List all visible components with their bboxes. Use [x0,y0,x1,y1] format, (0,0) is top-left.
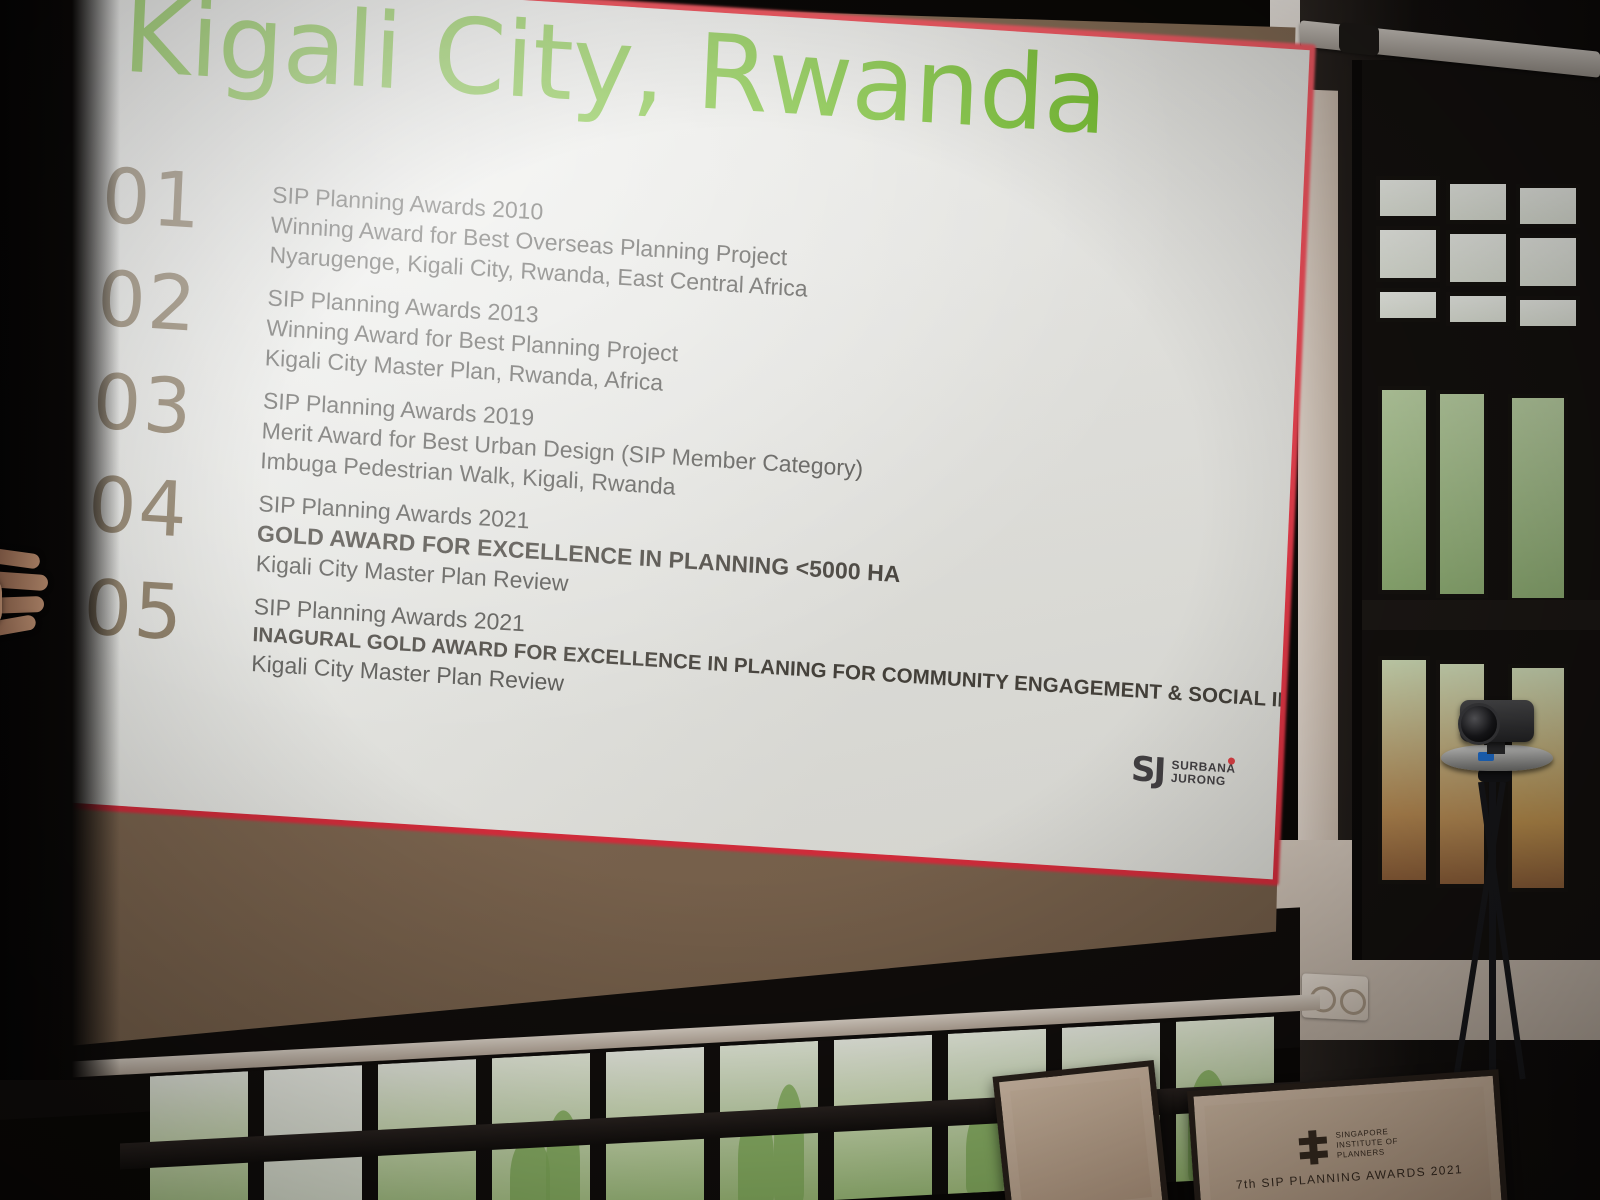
award-number: 01 [100,158,233,242]
window-pane [1380,292,1436,318]
projection-screen: Kigali City, Rwanda 01 SIP Planning Awar… [0,0,1340,1080]
sj-wordmark: SURBANA JURONG [1171,759,1236,789]
screen-left-shadow [0,0,120,1080]
award-list: 01 SIP Planning Awards 2010 Winning Awar… [81,164,1282,754]
window-pane [1450,234,1506,282]
socket-outlet-right [1340,988,1366,1015]
award-plaque-back [992,1060,1169,1200]
window-pane [1450,296,1506,322]
sip-logo-text: SINGAPORE INSTITUTE OF PLANNERS [1335,1127,1399,1161]
finger [0,547,41,569]
window-pane-foliage [1382,660,1426,880]
window-pane [1520,188,1576,224]
window-pane [1520,300,1576,326]
camera-neck [1487,740,1505,754]
presentation-slide: Kigali City, Rwanda 01 SIP Planning Awar… [15,0,1310,879]
plaque-face [1010,1078,1152,1200]
sip-logo: SINGAPORE INSTITUTE OF PLANNERS [1295,1125,1399,1166]
sj-monogram: SJ [1130,752,1165,788]
photo-scene: SINGAPORE INSTITUTE OF PLANNERS 7th SIP … [0,0,1600,1200]
finger [0,571,48,591]
window-pane [1450,184,1506,220]
award-plaque-front: SINGAPORE INSTITUTE OF PLANNERS 7th SIP … [1187,1069,1509,1200]
window-pane-foliage [1382,390,1426,590]
window-pane [150,1071,248,1200]
projector-screen-roller-cap [1339,22,1379,56]
right-window [1352,60,1600,960]
window-pane-foliage [1440,394,1484,594]
plant-leaf [774,1084,804,1200]
surbana-jurong-logo: SJ SURBANA JURONG [1130,752,1236,793]
window-pane [1380,180,1436,216]
slide-frame: Kigali City, Rwanda 01 SIP Planning Awar… [15,0,1310,879]
window-pane [1520,238,1576,286]
sip-institute-icon [1295,1129,1331,1165]
plaque-face: SINGAPORE INSTITUTE OF PLANNERS 7th SIP … [1204,1086,1492,1200]
window-pane-foliage [1512,398,1564,598]
sj-word-line2: JURONG [1171,772,1236,789]
finger [0,596,44,614]
camera-lens-icon [1458,703,1500,745]
window-pane [1380,230,1436,278]
plaque-caption: 7th SIP PLANNING AWARDS 2021 [1235,1162,1463,1192]
presenter-hand [0,545,58,665]
window-transom [1362,600,1600,630]
finger [0,614,37,639]
